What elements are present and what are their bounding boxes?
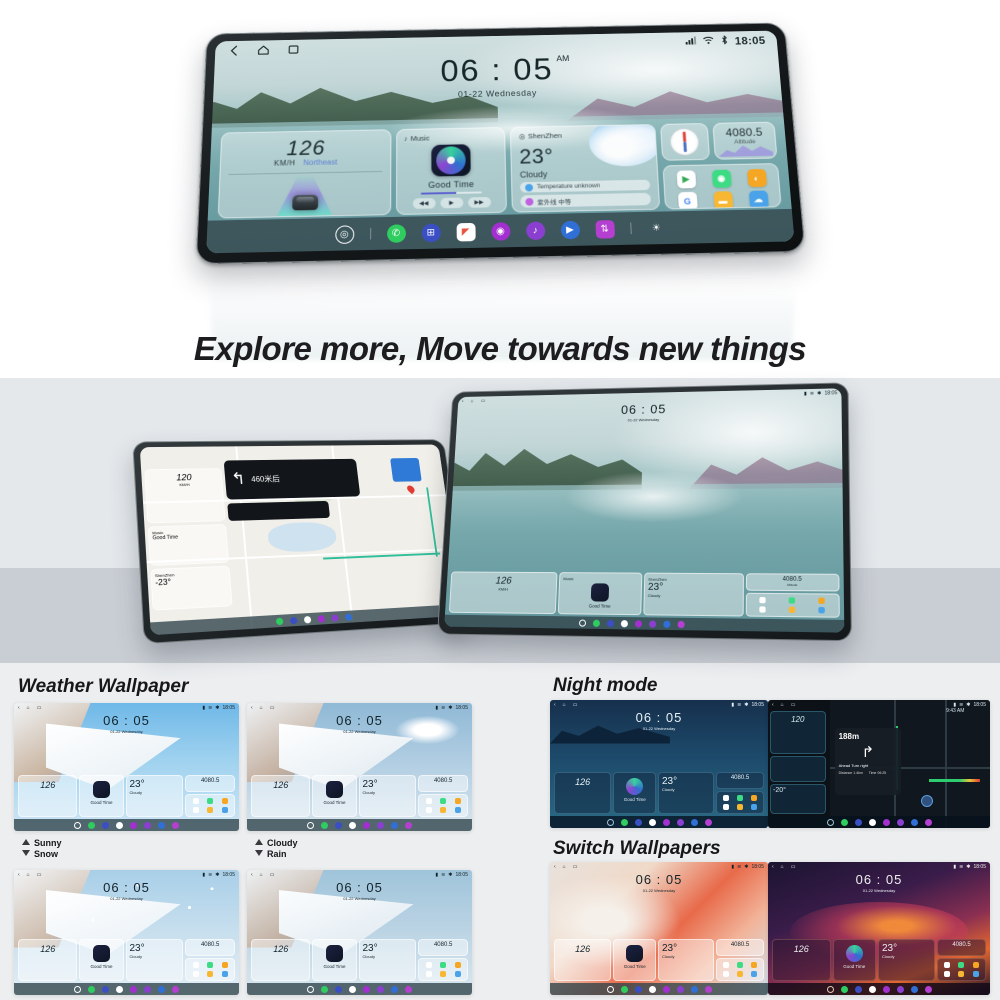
nav-temperature: -20°	[773, 787, 823, 794]
android-icon[interactable]	[440, 798, 446, 804]
speed-unit: KM/H	[454, 586, 553, 592]
media-icon[interactable]	[116, 822, 123, 829]
browser-icon[interactable]: ◐	[747, 169, 767, 187]
apps-grid-icon[interactable]	[635, 986, 642, 993]
equalizer-icon[interactable]	[925, 819, 932, 826]
back-chevron-icon[interactable]: ‹	[251, 705, 253, 711]
navigation-instruction-card: ↰ 460米后	[224, 459, 361, 500]
back-chevron-icon[interactable]: ‹	[772, 702, 774, 708]
apps-grid-icon[interactable]	[635, 819, 642, 826]
tiktok-icon[interactable]	[677, 986, 684, 993]
weather-widget[interactable]: 23°Cloudy	[126, 939, 184, 981]
android-icon[interactable]	[440, 962, 446, 968]
apps-grid-icon[interactable]	[855, 986, 862, 993]
clock-time: 06 : 05	[621, 402, 667, 417]
weather-widget[interactable]: ◎ ShenZhen 23° Cloudy Temperature unknow…	[510, 124, 660, 213]
status-bar: ‹⌂▭▮≋✱18:05	[247, 703, 472, 712]
music-widget[interactable]: Good Time	[79, 939, 123, 981]
phone-icon[interactable]	[88, 822, 95, 829]
speed-value: 126	[19, 944, 76, 954]
weather-widget[interactable]: 23°Cloudy	[359, 775, 417, 817]
tablet-screen: 18:05 06 : 05 AM 01-22 Wednesday 126 KM/…	[206, 31, 794, 254]
home-icon[interactable]: ⌂	[781, 864, 784, 870]
apps-grid-icon[interactable]	[335, 986, 342, 993]
equalizer-icon[interactable]	[677, 620, 684, 627]
phone-icon[interactable]	[321, 986, 328, 993]
right-widget-column: 4080.5	[716, 772, 764, 814]
altitude-widget[interactable]: 4080.5 Altitude	[745, 573, 839, 591]
equalizer-icon[interactable]	[705, 986, 712, 993]
play-icon[interactable]: ▶	[440, 198, 463, 209]
car-icon	[292, 195, 318, 211]
home-icon[interactable]: ⌂	[563, 864, 566, 870]
weather-temperature: 23°	[130, 779, 180, 790]
weather-city: ShenZhen	[648, 577, 739, 583]
nav-weather-widget[interactable]: ShenZhen -23°	[150, 566, 233, 610]
album-art	[431, 144, 470, 177]
google-icon[interactable]	[193, 807, 199, 813]
weather-condition: Cloudy	[662, 954, 710, 959]
browser-icon[interactable]	[973, 962, 979, 968]
files-icon[interactable]	[207, 971, 213, 977]
home-icon[interactable]: ⌂	[260, 872, 263, 878]
play-store-icon[interactable]	[723, 795, 729, 801]
weather-app-icon[interactable]	[973, 971, 979, 977]
nav-weather-widget[interactable]: -20°	[770, 784, 826, 814]
weather-app-icon[interactable]	[455, 807, 461, 813]
play-store-icon[interactable]	[944, 962, 950, 968]
android-icon[interactable]	[207, 798, 213, 804]
status-bar: ‹⌂▭▮≋✱18:05	[550, 700, 768, 709]
home-icon[interactable]: ⌂	[471, 398, 474, 404]
weather-label-group-1: Sunny Snow	[22, 838, 62, 861]
dock-bar	[550, 816, 768, 828]
wifi-icon: ≋	[441, 872, 445, 878]
weather-widget[interactable]: 23°Cloudy	[658, 939, 714, 981]
weather-app-icon[interactable]	[222, 807, 228, 813]
speed-widget[interactable]: 126	[251, 775, 310, 817]
widget-row: 126 Good Time 23°Cloudy 4080.5	[554, 939, 764, 981]
play-store-icon[interactable]	[723, 962, 729, 968]
home-icon[interactable]: ⌂	[781, 702, 784, 708]
previous-track-icon[interactable]: ◀◀	[412, 198, 435, 209]
video-player-icon[interactable]	[691, 819, 698, 826]
car-visualization	[219, 172, 391, 218]
recents-icon[interactable]: ▭	[270, 705, 275, 711]
files-icon[interactable]	[440, 971, 446, 977]
status-bar: ‹⌂▭▮≋✱18:05	[550, 862, 768, 871]
music-widget[interactable]: ♪ Music Good Time ◀◀ ▶ ▶▶	[396, 127, 507, 215]
weather-app-icon[interactable]	[751, 804, 757, 810]
location-icon: ◎	[519, 132, 526, 140]
radio-icon[interactable]	[363, 986, 370, 993]
android-icon[interactable]: ◉	[711, 170, 731, 188]
thumbnail-night-home[interactable]: ‹⌂▭▮≋✱18:05 06 : 0501-22 Wednesday 126 G…	[550, 700, 768, 828]
altitude-widget[interactable]: 4080.5	[716, 939, 764, 956]
recents-icon[interactable]: ▭	[481, 398, 486, 404]
nav-track-title: Good Time	[152, 533, 223, 541]
tiktok-icon[interactable]	[897, 819, 904, 826]
compass-dock-icon[interactable]	[607, 986, 614, 993]
recents-icon[interactable]: ▭	[791, 864, 796, 870]
thumbnail-weather-rain[interactable]: ‹⌂▭▮≋✱18:05 06 : 0501-22 Wednesday 126 G…	[247, 870, 472, 995]
altitude-widget[interactable]: 4080.5	[937, 939, 986, 956]
altitude-value: 4080.5	[186, 942, 234, 948]
phone-icon[interactable]	[88, 986, 95, 993]
equalizer-icon[interactable]: ⇅	[595, 220, 615, 239]
phone-icon[interactable]	[841, 986, 848, 993]
browser-icon[interactable]	[751, 962, 757, 968]
tiktok-icon[interactable]	[144, 822, 151, 829]
compass-dock-icon[interactable]	[307, 986, 314, 993]
files-icon[interactable]	[958, 971, 964, 977]
altitude-value: 4080.5	[717, 125, 770, 139]
signal-icon: ▮	[435, 872, 438, 878]
album-art	[326, 781, 343, 798]
apps-grid-icon[interactable]	[102, 986, 109, 993]
weather-temperature: 23°	[882, 943, 931, 954]
play-store-icon[interactable]	[426, 798, 432, 804]
tiktok-icon[interactable]	[677, 819, 684, 826]
back-chevron-icon[interactable]: ‹	[251, 872, 253, 878]
browser-icon[interactable]	[751, 795, 757, 801]
bluetooth-icon: ✱	[448, 705, 452, 711]
weather-label-rain: Rain	[267, 849, 287, 859]
thumbnail-weather-cloudy[interactable]: ‹⌂▭▮≋✱18:05 06 : 0501-22 Wednesday 126 G…	[247, 703, 472, 831]
nav-speed-widget[interactable]: 120	[770, 711, 826, 754]
equalizer-icon[interactable]	[705, 819, 712, 826]
radio-icon[interactable]	[130, 822, 137, 829]
altitude-widget[interactable]: 4080.5	[716, 772, 764, 789]
clock-date: 01-22 Wednesday	[457, 414, 842, 426]
thumbnail-weather-snow[interactable]: ‹⌂▭▮≋✱18:05 06 : 0501-22 Wednesday 126 G…	[14, 870, 239, 995]
music-widget[interactable]: Good Time	[833, 939, 876, 981]
radio-icon[interactable]	[634, 620, 641, 627]
recents-icon[interactable]: ▭	[37, 872, 42, 878]
phone-icon[interactable]: ✆	[387, 224, 406, 243]
dock-bar	[444, 615, 844, 633]
media-icon[interactable]	[649, 819, 656, 826]
compass-dock-icon[interactable]	[607, 819, 614, 826]
google-icon[interactable]	[944, 971, 950, 977]
google-icon[interactable]	[760, 606, 766, 612]
tiktok-icon[interactable]: ♪	[526, 221, 545, 240]
speed-widget[interactable]: 126	[18, 939, 77, 981]
speed-widget[interactable]: 126	[554, 939, 611, 981]
music-widget[interactable]: Music Good Time	[558, 572, 642, 615]
track-title: Good Time	[313, 964, 355, 969]
nav-speed-unit: KM/H	[149, 482, 219, 488]
track-title: Good Time	[80, 964, 122, 969]
equalizer-icon[interactable]	[405, 986, 412, 993]
compass-dock-icon[interactable]: ◎	[335, 225, 354, 244]
browser-icon[interactable]	[222, 962, 228, 968]
altitude-widget[interactable]: 4080.5	[418, 939, 468, 956]
weather-app-icon[interactable]	[818, 607, 824, 613]
video-player-icon[interactable]: ▶	[560, 220, 580, 239]
speed-widget[interactable]: 126	[772, 939, 831, 981]
recents-icon[interactable]: ▭	[791, 702, 796, 708]
media-icon[interactable]: ◤	[456, 222, 475, 241]
weather-widget[interactable]: 23°Cloudy	[126, 775, 184, 817]
google-icon[interactable]	[723, 804, 729, 810]
back-chevron-icon[interactable]: ‹	[18, 872, 20, 878]
equalizer-icon[interactable]	[172, 822, 179, 829]
android-icon[interactable]	[958, 962, 964, 968]
music-widget[interactable]: Good Time	[613, 772, 656, 814]
play-store-icon[interactable]	[760, 597, 766, 603]
back-chevron-icon[interactable]: ‹	[554, 702, 556, 708]
google-icon[interactable]	[426, 971, 432, 977]
weather-app-icon[interactable]	[455, 971, 461, 977]
widget-row: 126 Good Time 23°Cloudy 4080.5	[554, 772, 764, 814]
files-icon[interactable]	[789, 606, 795, 612]
android-icon[interactable]	[789, 597, 795, 603]
video-player-icon[interactable]	[911, 986, 918, 993]
video-player-icon[interactable]	[911, 819, 918, 826]
home-icon[interactable]: ⌂	[27, 705, 30, 711]
radio-icon[interactable]	[883, 819, 890, 826]
compass-dock-icon[interactable]	[307, 822, 314, 829]
files-icon[interactable]	[737, 804, 743, 810]
vinyl-disc-icon	[436, 146, 466, 174]
google-icon[interactable]: G	[677, 192, 697, 210]
right-widget-column: 4080.5 Altitude	[745, 573, 840, 618]
back-chevron-icon[interactable]: ‹	[462, 398, 464, 404]
apps-grid-icon[interactable]	[606, 619, 613, 626]
weather-app-icon[interactable]	[751, 971, 757, 977]
weather-temperature: 23°	[648, 582, 739, 594]
wifi-icon: ≋	[810, 390, 814, 396]
phone-icon[interactable]	[621, 986, 628, 993]
speed-value: 126	[252, 944, 309, 954]
back-chevron-icon[interactable]: ‹	[772, 864, 774, 870]
compass-dock-icon[interactable]	[74, 822, 81, 829]
files-icon[interactable]: ▬	[713, 191, 733, 209]
video-player-icon[interactable]	[391, 986, 398, 993]
video-player-icon[interactable]	[344, 613, 352, 620]
destination-pin-icon	[406, 484, 416, 494]
phone-icon[interactable]	[841, 819, 848, 826]
status-bar-time: 18:05	[734, 34, 766, 47]
play-store-icon[interactable]	[193, 798, 199, 804]
app-grid	[185, 958, 235, 981]
radio-icon[interactable]	[130, 986, 137, 993]
play-store-icon[interactable]	[193, 962, 199, 968]
nav-speed-value: 120	[149, 472, 219, 483]
files-icon[interactable]	[737, 971, 743, 977]
thumbnail-night-navigation[interactable]: 9:43 AM 188m ↱ Ahead Turn right Distance…	[768, 700, 990, 828]
android-icon[interactable]	[737, 962, 743, 968]
play-store-icon[interactable]: ▶	[676, 170, 696, 188]
weather-label-cloudy: Cloudy	[267, 838, 298, 848]
google-icon[interactable]	[193, 971, 199, 977]
recents-icon[interactable]: ▭	[573, 864, 578, 870]
video-player-icon[interactable]	[158, 822, 165, 829]
clock-widget: 06 : 0501-22 Wednesday	[768, 872, 990, 893]
compass-dock-icon[interactable]	[827, 819, 834, 826]
weather-widget[interactable]: 23°Cloudy	[658, 772, 714, 814]
weather-widget[interactable]: 23°Cloudy	[359, 939, 417, 981]
compass-dock-icon[interactable]	[578, 619, 585, 626]
weather-condition: Cloudy	[130, 790, 180, 795]
brightness-icon[interactable]: ☀	[646, 219, 666, 238]
video-player-icon[interactable]	[691, 986, 698, 993]
tiktok-icon[interactable]	[649, 620, 656, 627]
android-icon[interactable]	[207, 962, 213, 968]
radio-icon[interactable]	[363, 822, 370, 829]
radio-icon[interactable]	[317, 615, 325, 622]
media-icon[interactable]	[869, 986, 876, 993]
speed-value: 126	[19, 780, 76, 790]
media-icon[interactable]	[349, 822, 356, 829]
back-chevron-icon[interactable]: ‹	[18, 705, 20, 711]
section-title-night-mode: Night mode	[553, 675, 658, 697]
recents-icon[interactable]: ▭	[37, 705, 42, 711]
files-icon[interactable]	[440, 807, 446, 813]
section-title-weather-wallpaper: Weather Wallpaper	[18, 676, 188, 698]
media-icon[interactable]	[649, 986, 656, 993]
nav-widget-column: 120 KM/H Music Good Time ShenZhen -23°	[141, 466, 236, 614]
home-icon[interactable]	[256, 43, 271, 56]
speed-widget[interactable]: 126	[18, 775, 77, 817]
progress-bar[interactable]	[421, 192, 482, 195]
status-bar-time: 18:05	[222, 872, 235, 878]
video-player-icon[interactable]	[663, 620, 670, 627]
tiktok-icon[interactable]	[377, 822, 384, 829]
files-icon[interactable]	[207, 807, 213, 813]
track-title: Good Time	[614, 964, 655, 969]
speed-value: 126	[286, 136, 325, 161]
thumbnail-weather-sunny[interactable]: ‹⌂▭▮≋✱18:05 06 : 0501-22 Wednesday 126 G…	[14, 703, 239, 831]
album-art	[591, 583, 609, 601]
tiktok-icon[interactable]	[331, 614, 339, 621]
nav-speed-widget[interactable]: 120 KM/H	[144, 469, 226, 524]
apps-grid-icon[interactable]	[289, 616, 297, 624]
google-icon[interactable]	[426, 807, 432, 813]
home-icon[interactable]: ⌂	[563, 702, 566, 708]
compass-dock-icon[interactable]	[74, 986, 81, 993]
media-icon[interactable]	[620, 620, 627, 627]
app-grid	[185, 794, 235, 817]
tiktok-icon[interactable]	[377, 986, 384, 993]
speed-widget[interactable]: 126 KM/H Northeast	[218, 129, 392, 218]
thumbnail-wallpaper-warm[interactable]: ‹⌂▭▮≋✱18:05 06 : 0501-22 Wednesday 126 G…	[550, 862, 768, 995]
dock-bar	[247, 819, 472, 831]
video-player-icon[interactable]	[158, 986, 165, 993]
right-widget-column: 4080.5	[716, 939, 764, 981]
radio-icon[interactable]	[663, 986, 670, 993]
thumbnail-wallpaper-aurora[interactable]: ‹⌂▭▮≋✱18:05 06 : 0501-22 Wednesday 126 G…	[768, 862, 990, 995]
brightness-icon[interactable]	[691, 621, 698, 628]
phone-icon[interactable]	[592, 619, 599, 626]
radio-icon[interactable]	[883, 986, 890, 993]
nav-music-widget[interactable]: Music Good Time	[148, 524, 230, 566]
weather-widget[interactable]: 23°Cloudy	[878, 939, 935, 981]
status-bar-time: 18:05	[222, 705, 235, 711]
speed-widget[interactable]: 126	[554, 772, 611, 814]
equalizer-icon[interactable]	[925, 986, 932, 993]
weather-label-snow: Snow	[34, 849, 58, 859]
home-icon[interactable]: ⌂	[27, 872, 30, 878]
bluetooth-icon: ✱	[215, 872, 219, 878]
weather-widget[interactable]: ShenZhen 23° Cloudy	[643, 573, 743, 617]
tiktok-icon[interactable]	[897, 986, 904, 993]
temperature-status-text: Temperature unknown	[537, 183, 600, 191]
weather-condition: Cloudy	[648, 593, 739, 599]
tiktok-icon[interactable]	[144, 986, 151, 993]
altitude-widget[interactable]: 4080.5	[185, 775, 235, 792]
back-chevron-icon[interactable]	[226, 44, 241, 57]
google-icon[interactable]	[723, 971, 729, 977]
app-grid	[937, 958, 986, 981]
compass-dock-icon[interactable]	[827, 986, 834, 993]
phone-icon[interactable]	[621, 819, 628, 826]
phone-icon[interactable]	[275, 617, 283, 625]
section-title-switch-wallpapers: Switch Wallpapers	[553, 838, 721, 860]
music-widget[interactable]: Good Time	[79, 775, 123, 817]
equalizer-icon[interactable]	[405, 822, 412, 829]
nav-music-widget[interactable]	[770, 756, 826, 782]
clock-widget: 06 : 0501-22 Wednesday	[247, 713, 472, 734]
media-icon[interactable]	[116, 986, 123, 993]
media-icon[interactable]	[303, 616, 311, 624]
speed-widget[interactable]: 126 KM/H	[449, 571, 558, 614]
album-art	[846, 945, 863, 962]
altitude-widget[interactable]: 4080.5	[185, 939, 235, 956]
recents-icon[interactable]	[286, 43, 301, 56]
home-icon[interactable]: ⌂	[260, 705, 263, 711]
right-widget-column: 4080.5	[937, 939, 986, 981]
media-icon[interactable]	[869, 819, 876, 826]
video-player-icon[interactable]	[391, 822, 398, 829]
back-chevron-icon[interactable]: ‹	[554, 864, 556, 870]
speed-widget[interactable]: 126	[251, 939, 310, 981]
browser-icon[interactable]	[455, 962, 461, 968]
apps-grid-icon[interactable]	[855, 819, 862, 826]
radio-icon[interactable]: ◉	[491, 222, 510, 241]
weather-app-icon[interactable]: ☁	[748, 190, 768, 208]
compass-widget[interactable]	[660, 123, 710, 161]
music-widget[interactable]: Good Time	[312, 939, 356, 981]
lane-guidance-indicator	[390, 458, 421, 482]
next-track-icon[interactable]: ▶▶	[468, 197, 491, 208]
media-icon[interactable]	[349, 986, 356, 993]
radio-icon[interactable]	[663, 819, 670, 826]
android-icon[interactable]	[737, 795, 743, 801]
phone-icon[interactable]	[321, 822, 328, 829]
recents-icon[interactable]: ▭	[573, 702, 578, 708]
browser-icon[interactable]	[818, 598, 824, 604]
signal-icon: ▮	[435, 705, 438, 711]
music-widget[interactable]: Good Time	[312, 775, 356, 817]
altitude-widget[interactable]: 4080.5	[418, 775, 468, 792]
clock-date: 01-22 Wednesday	[550, 726, 768, 731]
apps-grid-icon[interactable]	[102, 822, 109, 829]
browser-icon[interactable]	[455, 798, 461, 804]
browser-icon[interactable]	[222, 798, 228, 804]
play-store-icon[interactable]	[426, 962, 432, 968]
recents-icon[interactable]: ▭	[270, 872, 275, 878]
signal-icon: ▮	[731, 864, 734, 870]
music-widget[interactable]: Good Time	[613, 939, 656, 981]
altitude-widget[interactable]: 4080.5 Altitude	[712, 122, 777, 160]
album-art	[93, 945, 110, 962]
weather-app-icon[interactable]	[222, 971, 228, 977]
apps-grid-icon[interactable]: ⊞	[421, 223, 440, 242]
apps-grid-icon[interactable]	[335, 822, 342, 829]
equalizer-icon[interactable]	[172, 986, 179, 993]
